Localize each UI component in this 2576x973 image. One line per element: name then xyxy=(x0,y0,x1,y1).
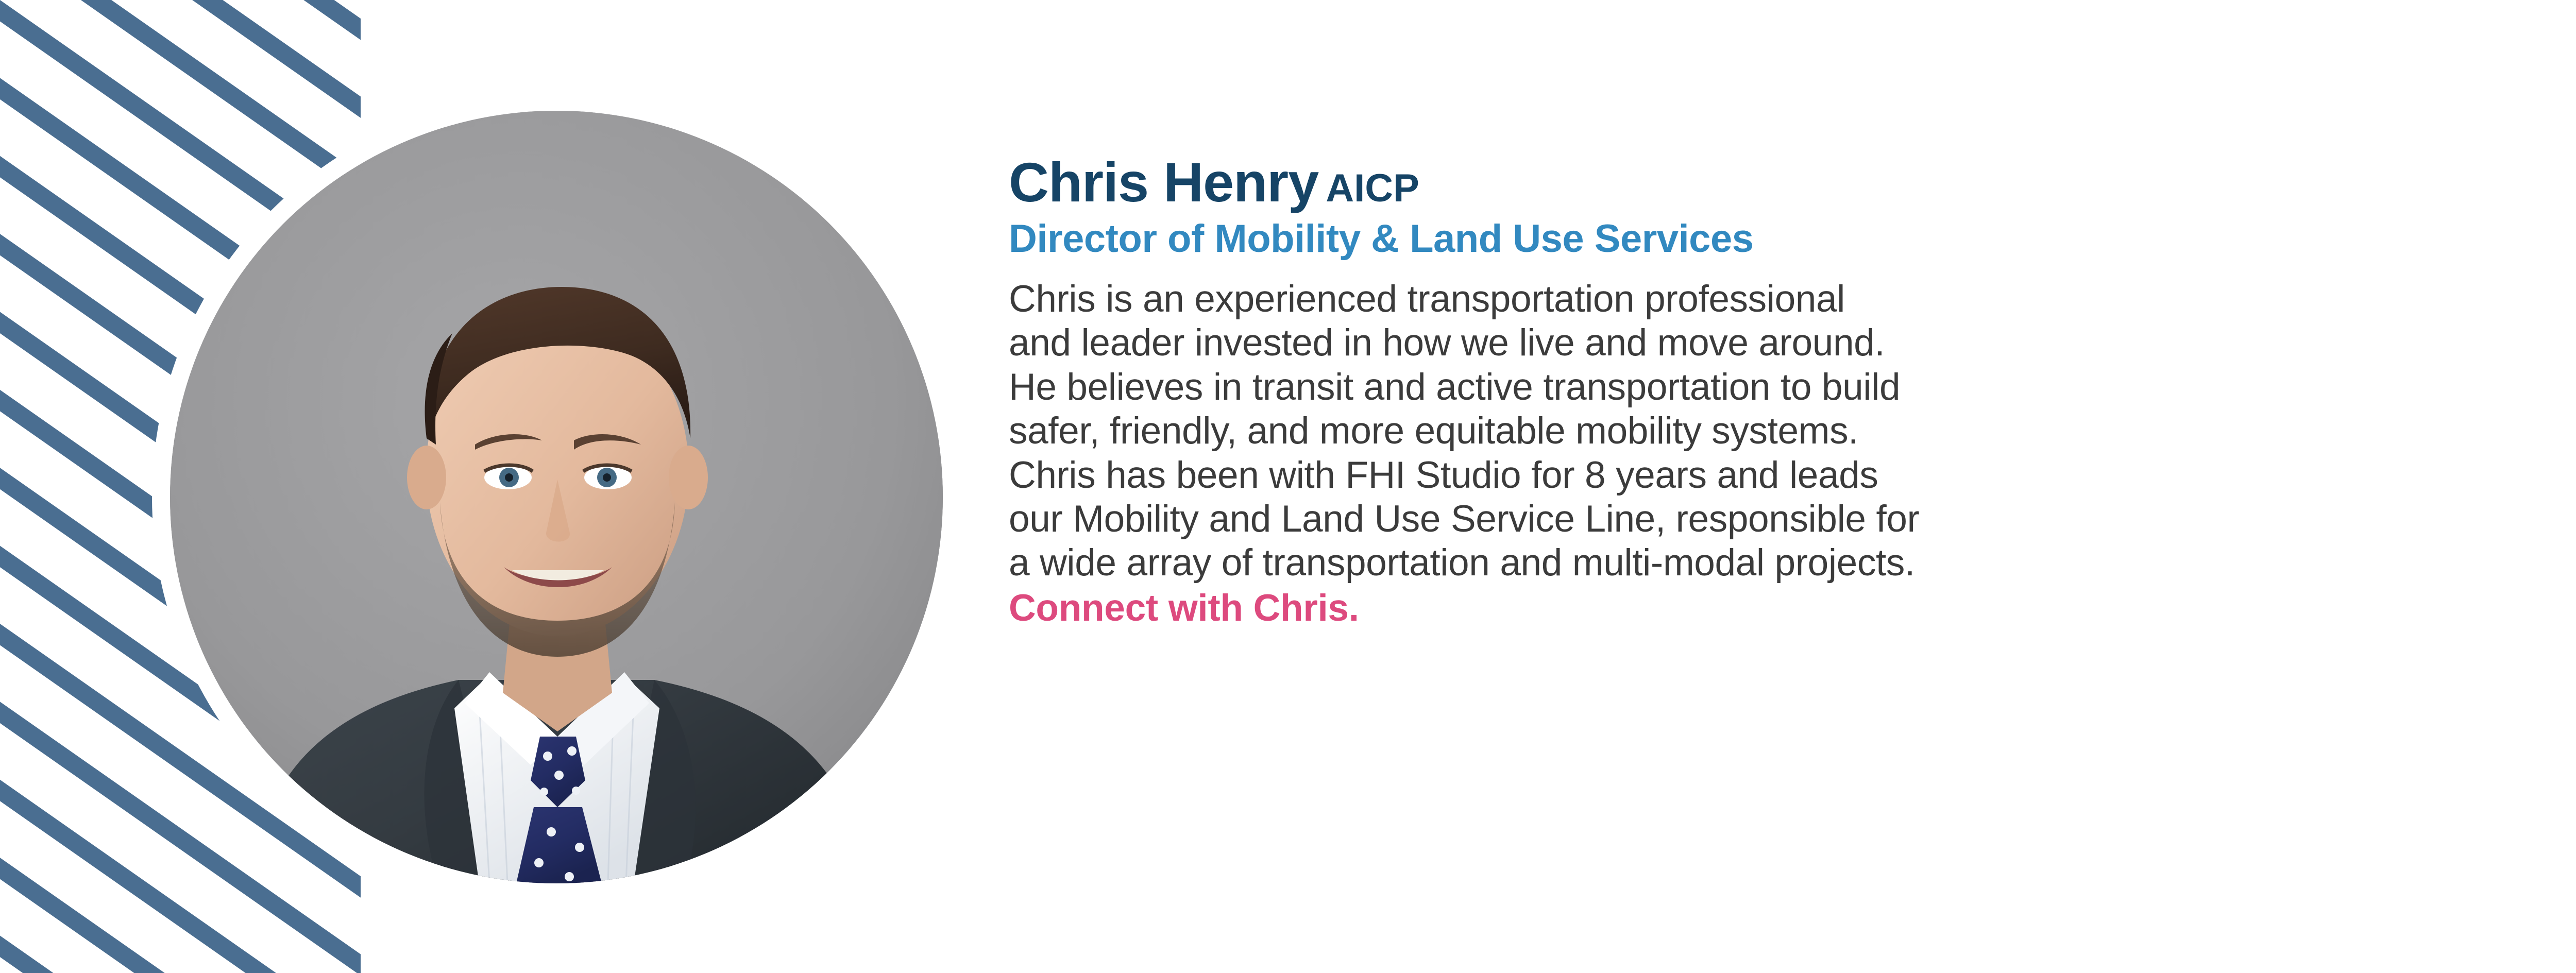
staff-bio-card: Chris HenryAICP Director of Mobility & L… xyxy=(0,0,2576,973)
portrait-photo xyxy=(170,111,943,883)
bio-line: safer, friendly, and more equitable mobi… xyxy=(1009,409,2503,453)
bio-line: and leader invested in how we live and m… xyxy=(1009,321,2503,365)
bio-line: our Mobility and Land Use Service Line, … xyxy=(1009,497,2503,541)
bio-paragraph: Chris is an experienced transportation p… xyxy=(1009,277,2503,630)
bio-line: a wide array of transportation and multi… xyxy=(1009,541,2503,585)
bio-line: Chris has been with FHI Studio for 8 yea… xyxy=(1009,453,2503,497)
bio-line: Chris is an experienced transportation p… xyxy=(1009,277,2503,321)
person-name-line: Chris HenryAICP xyxy=(1009,155,2503,210)
bio-text-block: Chris HenryAICP Director of Mobility & L… xyxy=(1009,155,2503,630)
bio-line: He believes in transit and active transp… xyxy=(1009,365,2503,409)
person-credential: AICP xyxy=(1326,166,1419,210)
avatar xyxy=(164,105,949,890)
person-name: Chris Henry xyxy=(1009,151,1318,213)
connect-with-chris-link[interactable]: Connect with Chris. xyxy=(1009,586,2503,630)
person-title: Director of Mobility & Land Use Services xyxy=(1009,219,2503,259)
